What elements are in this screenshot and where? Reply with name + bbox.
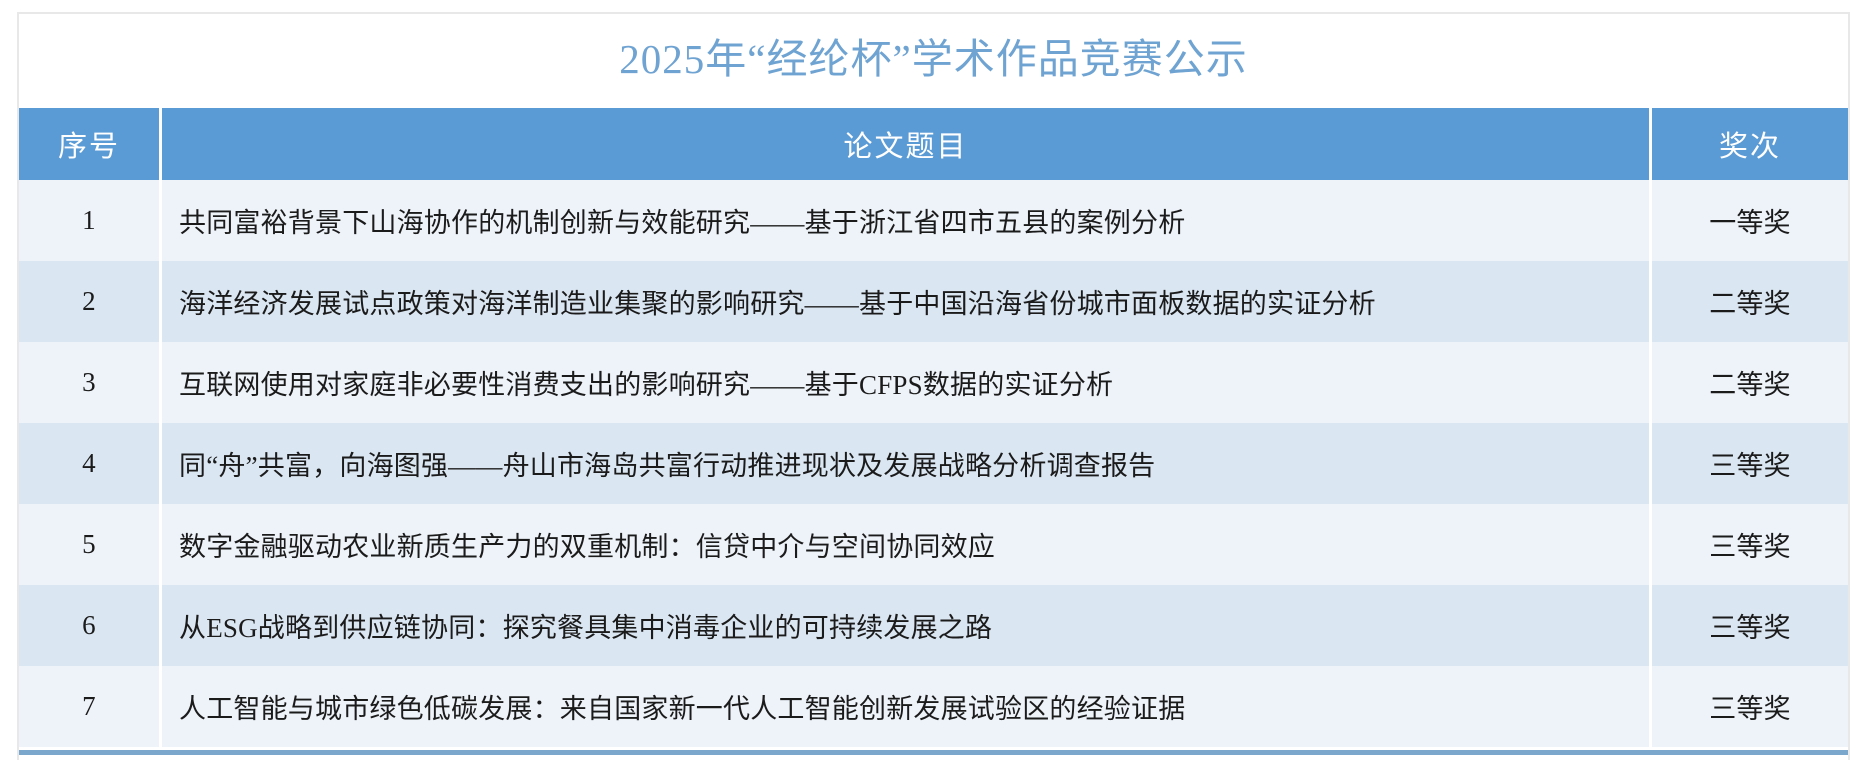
- cell-paper-title: 人工智能与城市绿色低碳发展：来自国家新一代人工智能创新发展试验区的经验证据: [162, 666, 1652, 747]
- title-band: 2025年“经纶杯”学术作品竞赛公示: [19, 14, 1848, 105]
- table-row: 2 海洋经济发展试点政策对海洋制造业集聚的影响研究——基于中国沿海省份城市面板数…: [19, 261, 1848, 342]
- cell-paper-title: 数字金融驱动农业新质生产力的双重机制：信贷中介与空间协同效应: [162, 504, 1652, 585]
- table-body: 1 共同富裕背景下山海协作的机制创新与效能研究——基于浙江省四市五县的案例分析 …: [19, 180, 1848, 747]
- document-page: 2025年“经纶杯”学术作品竞赛公示 序号 论文题目 奖次 1 共同富裕背景下山…: [0, 0, 1864, 768]
- award-results-table: 序号 论文题目 奖次 1 共同富裕背景下山海协作的机制创新与效能研究——基于浙江…: [19, 108, 1848, 747]
- cell-award: 二等奖: [1652, 342, 1848, 423]
- cell-award: 三等奖: [1652, 423, 1848, 504]
- cell-index: 4: [19, 423, 162, 504]
- cell-index: 6: [19, 585, 162, 666]
- column-header-paper-title: 论文题目: [162, 108, 1652, 180]
- cell-award: 一等奖: [1652, 180, 1848, 261]
- cell-index: 2: [19, 261, 162, 342]
- cell-paper-title: 从ESG战略到供应链协同：探究餐具集中消毒企业的可持续发展之路: [162, 585, 1652, 666]
- cell-paper-title: 海洋经济发展试点政策对海洋制造业集聚的影响研究——基于中国沿海省份城市面板数据的…: [162, 261, 1652, 342]
- cell-award: 三等奖: [1652, 585, 1848, 666]
- cell-index: 1: [19, 180, 162, 261]
- table-row: 3 互联网使用对家庭非必要性消费支出的影响研究——基于CFPS数据的实证分析 二…: [19, 342, 1848, 423]
- cell-paper-title: 共同富裕背景下山海协作的机制创新与效能研究——基于浙江省四市五县的案例分析: [162, 180, 1652, 261]
- page-title: 2025年“经纶杯”学术作品竞赛公示: [619, 37, 1247, 82]
- table-row: 6 从ESG战略到供应链协同：探究餐具集中消毒企业的可持续发展之路 三等奖: [19, 585, 1848, 666]
- cell-index: 7: [19, 666, 162, 747]
- column-header-award: 奖次: [1652, 108, 1848, 180]
- cell-paper-title: 同“舟”共富，向海图强——舟山市海岛共富行动推进现状及发展战略分析调查报告: [162, 423, 1652, 504]
- table-row: 4 同“舟”共富，向海图强——舟山市海岛共富行动推进现状及发展战略分析调查报告 …: [19, 423, 1848, 504]
- cell-index: 5: [19, 504, 162, 585]
- table-header: 序号 论文题目 奖次: [19, 108, 1848, 180]
- cell-paper-title: 互联网使用对家庭非必要性消费支出的影响研究——基于CFPS数据的实证分析: [162, 342, 1652, 423]
- cell-award: 三等奖: [1652, 504, 1848, 585]
- table-row: 5 数字金融驱动农业新质生产力的双重机制：信贷中介与空间协同效应 三等奖: [19, 504, 1848, 585]
- cell-award: 二等奖: [1652, 261, 1848, 342]
- cell-index: 3: [19, 342, 162, 423]
- table-row: 7 人工智能与城市绿色低碳发展：来自国家新一代人工智能创新发展试验区的经验证据 …: [19, 666, 1848, 747]
- table-header-row: 序号 论文题目 奖次: [19, 108, 1848, 180]
- column-header-index: 序号: [19, 108, 162, 180]
- cell-award: 三等奖: [1652, 666, 1848, 747]
- table-bottom-rule: [19, 750, 1848, 755]
- table-row: 1 共同富裕背景下山海协作的机制创新与效能研究——基于浙江省四市五县的案例分析 …: [19, 180, 1848, 261]
